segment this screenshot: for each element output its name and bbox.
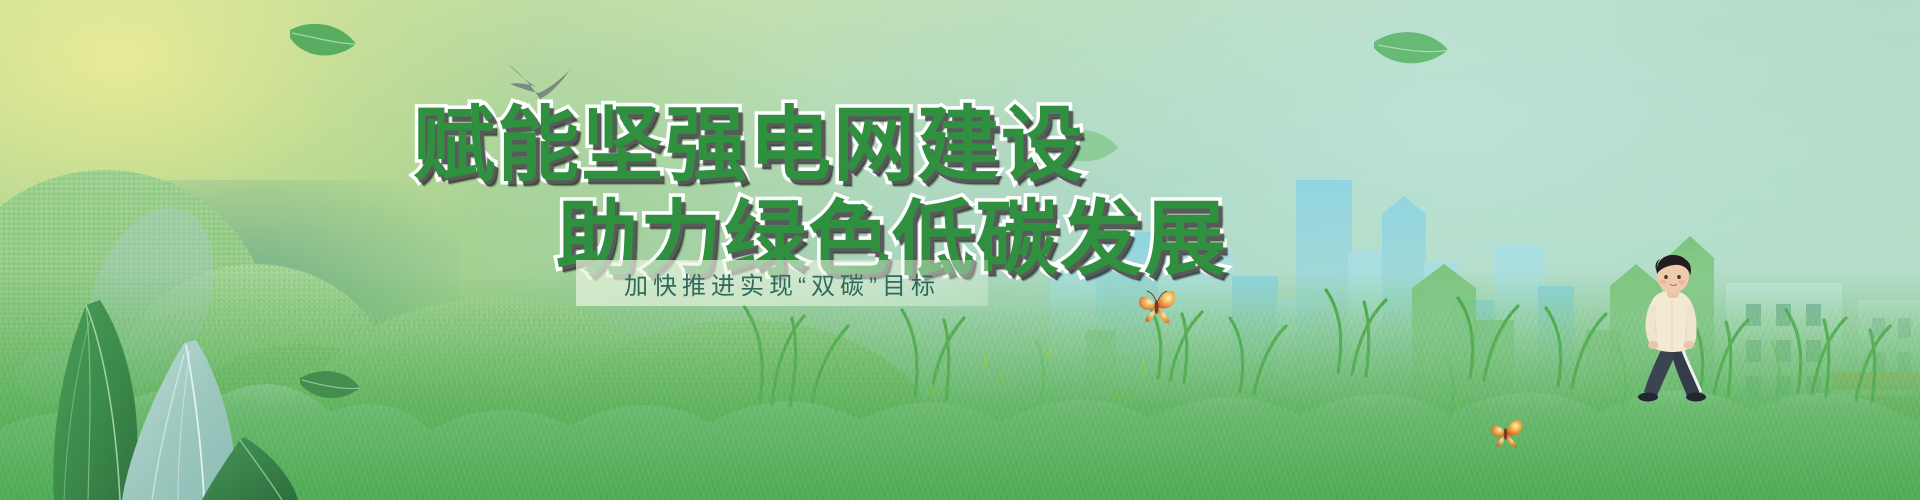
banner-root: 赋能坚强电网建设 助力绿色低碳发展 加快推进实现“双碳”目标 — [0, 0, 1920, 500]
walking-person — [1628, 252, 1720, 402]
foreground-leaves — [0, 0, 1920, 500]
floating-leaf-4 — [300, 371, 360, 398]
butterfly-near-title-icon — [1133, 285, 1177, 325]
flying-swallow-icon — [506, 62, 576, 106]
butterfly-in-grass-icon — [1486, 415, 1524, 449]
floating-leaf-1 — [290, 24, 356, 56]
leaf-dark-left — [53, 300, 137, 500]
floating-leaf-3 — [1050, 130, 1118, 161]
floating-leaf-2 — [1374, 32, 1448, 63]
